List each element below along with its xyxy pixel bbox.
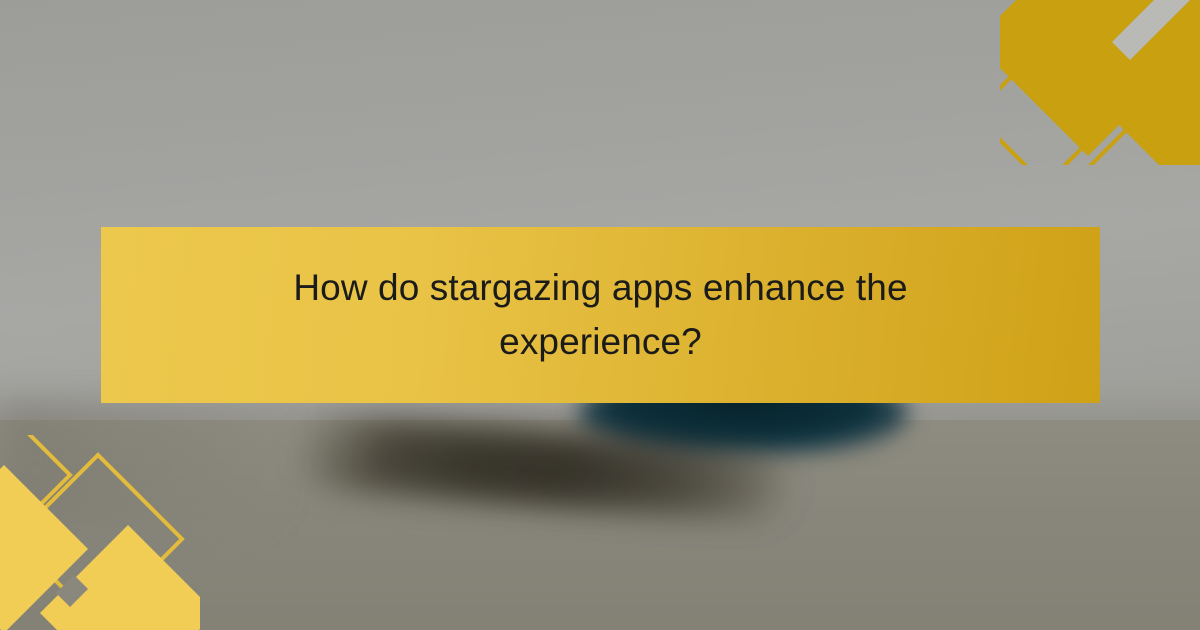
share-card: How do stargazing apps enhance the exper… bbox=[0, 0, 1200, 630]
page-title: How do stargazing apps enhance the exper… bbox=[281, 261, 921, 369]
title-banner: How do stargazing apps enhance the exper… bbox=[101, 227, 1100, 403]
